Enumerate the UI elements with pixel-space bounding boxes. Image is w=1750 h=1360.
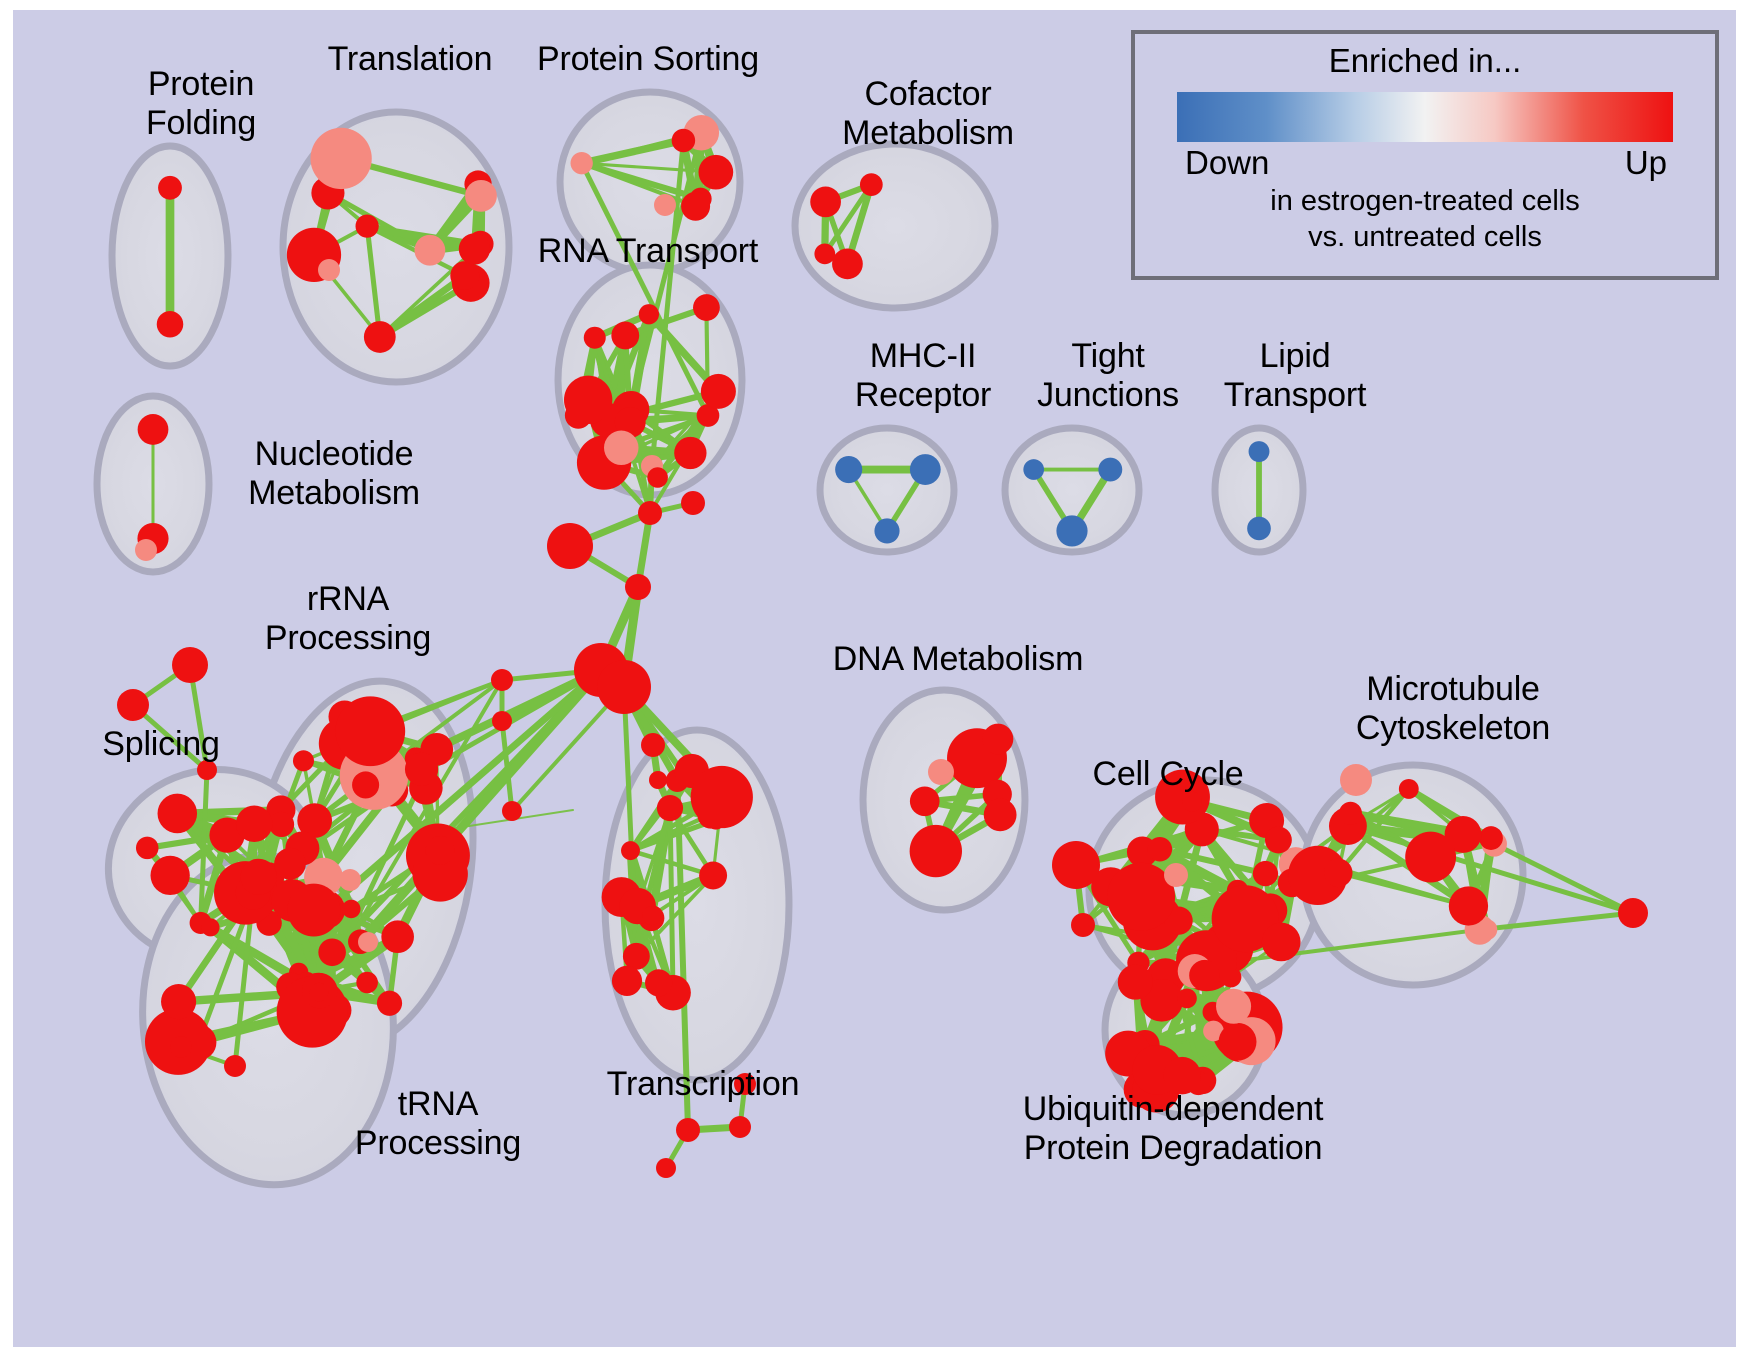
network-node <box>570 152 592 174</box>
network-node <box>136 837 159 860</box>
network-node <box>1216 989 1251 1024</box>
network-node <box>701 374 736 409</box>
network-node <box>860 173 883 196</box>
legend-subtitle-line1: in estrogen-treated cells <box>1135 184 1715 218</box>
network-edge <box>670 807 673 993</box>
network-node <box>274 848 306 880</box>
legend-title: Enriched in... <box>1135 42 1715 80</box>
network-node <box>364 321 396 353</box>
network-node <box>1253 861 1278 886</box>
network-node <box>502 801 522 821</box>
network-node <box>1339 802 1362 825</box>
network-node <box>1479 826 1503 850</box>
network-node <box>1148 837 1173 862</box>
figure-root: Protein FoldingTranslationProtein Sortin… <box>0 0 1750 1360</box>
network-node <box>158 794 198 834</box>
network-node <box>698 155 733 190</box>
network-node <box>1177 988 1197 1008</box>
network-node <box>269 812 294 837</box>
network-node <box>356 215 379 238</box>
network-node <box>564 376 612 424</box>
cluster-label-cofactor-metabolism: Cofactor Metabolism <box>803 75 1053 153</box>
network-node <box>150 856 189 895</box>
network-node <box>1098 458 1122 482</box>
network-node <box>641 733 665 757</box>
network-node <box>584 327 606 349</box>
network-node <box>691 766 753 828</box>
network-node <box>835 456 862 483</box>
network-node <box>1023 459 1044 480</box>
network-node <box>699 862 727 890</box>
network-node <box>1189 960 1220 991</box>
cluster-label-splicing: Splicing <box>61 725 261 764</box>
network-node <box>1449 886 1488 925</box>
network-node <box>597 660 651 714</box>
network-node <box>672 129 696 153</box>
network-node <box>625 574 651 600</box>
network-node <box>381 920 414 953</box>
network-node <box>874 518 899 543</box>
network-node <box>693 294 720 321</box>
network-node <box>170 1036 192 1058</box>
legend-high-label: Up <box>1625 144 1667 182</box>
network-node <box>649 771 667 789</box>
cluster-label-trna-processing: tRNA Processing <box>323 1085 553 1163</box>
network-node <box>172 647 208 683</box>
cluster-label-dna-metabolism: DNA Metabolism <box>813 640 1103 679</box>
network-node <box>201 918 219 936</box>
network-node <box>358 932 378 952</box>
cluster-label-nucleotide-metabolism: Nucleotide Metabolism <box>209 435 459 513</box>
network-node <box>135 539 157 561</box>
network-node <box>352 771 379 798</box>
network-node <box>450 261 479 290</box>
legend-subtitle-line2: vs. untreated cells <box>1135 220 1715 254</box>
network-node <box>1164 863 1188 887</box>
network-node <box>138 414 169 445</box>
cluster-label-ubiquitin-protein-degradation: Ubiquitin-dependent Protein Degradation <box>973 1090 1373 1168</box>
network-node <box>656 1158 676 1178</box>
cluster-label-protein-sorting: Protein Sorting <box>503 40 793 79</box>
network-node <box>1265 827 1292 854</box>
network-node <box>241 859 277 895</box>
network-node <box>1249 441 1270 462</box>
network-node <box>236 806 273 843</box>
cluster-label-protein-folding: Protein Folding <box>91 65 311 143</box>
network-node <box>1340 764 1372 796</box>
network-node <box>377 991 402 1016</box>
network-node <box>676 1118 700 1142</box>
network-node <box>547 523 593 569</box>
network-node <box>426 836 455 865</box>
network-node <box>638 501 662 525</box>
network-node <box>928 759 954 785</box>
network-node <box>623 943 650 970</box>
network-node <box>910 454 941 485</box>
cluster-label-rna-transport: RNA Transport <box>513 232 783 271</box>
network-node <box>459 233 490 264</box>
network-node <box>335 696 405 766</box>
network-node <box>642 906 661 925</box>
network-node <box>1052 841 1100 889</box>
network-node <box>414 235 445 266</box>
network-node <box>339 869 361 891</box>
network-node <box>611 322 639 350</box>
network-node <box>1324 859 1353 888</box>
network-node <box>310 983 329 1002</box>
cluster-label-lipid-transport: Lipid Transport <box>1185 337 1405 415</box>
network-node <box>612 966 642 996</box>
network-node <box>1182 792 1202 812</box>
legend-gradient-bar <box>1177 92 1673 142</box>
network-node <box>681 491 705 515</box>
legend-box: Enriched in... Down Up in estrogen-treat… <box>1131 30 1719 280</box>
cluster-label-microtubule-cytoskeleton: Microtubule Cytoskeleton <box>1308 670 1598 748</box>
network-node <box>405 753 438 786</box>
cluster-label-transcription: Transcription <box>568 1065 838 1104</box>
network-node <box>157 311 184 338</box>
network-node <box>117 689 149 721</box>
network-node <box>1071 913 1095 937</box>
cluster-label-translation: Translation <box>285 40 535 79</box>
cluster-label-cell-cycle: Cell Cycle <box>1053 755 1283 794</box>
network-node <box>674 437 706 469</box>
network-node <box>356 972 378 994</box>
network-node <box>1399 779 1419 799</box>
network-node <box>491 669 513 691</box>
network-node <box>659 796 681 818</box>
network-node <box>810 187 841 218</box>
network-node <box>1618 898 1648 928</box>
network-node <box>1247 517 1271 541</box>
network-node <box>1118 965 1153 1000</box>
network-node <box>983 724 1014 755</box>
network-canvas: Protein FoldingTranslationProtein Sortin… <box>13 10 1736 1347</box>
cluster-label-rrna-processing: rRNA Processing <box>233 580 463 658</box>
network-node <box>647 467 668 488</box>
network-node <box>1476 919 1497 940</box>
network-node <box>287 884 340 937</box>
network-node <box>639 304 659 324</box>
network-node <box>621 841 640 860</box>
network-node <box>832 248 863 279</box>
network-node <box>310 128 371 189</box>
network-node <box>1219 1023 1257 1061</box>
network-node <box>465 180 497 212</box>
network-node <box>910 786 940 816</box>
network-node <box>1056 515 1087 546</box>
network-node <box>342 900 361 919</box>
network-node <box>729 1116 751 1138</box>
network-node <box>1405 832 1456 883</box>
network-node <box>814 243 835 264</box>
network-node <box>1262 923 1301 962</box>
network-node <box>492 711 512 731</box>
network-node <box>681 192 710 221</box>
network-node <box>293 750 314 771</box>
network-node <box>1164 1057 1201 1094</box>
network-node <box>604 431 638 465</box>
network-node <box>318 938 346 966</box>
legend-low-label: Down <box>1185 144 1269 182</box>
network-node <box>224 1055 246 1077</box>
network-node <box>645 969 672 996</box>
network-node <box>318 259 340 281</box>
network-node <box>910 825 962 877</box>
network-node <box>161 984 196 1019</box>
network-node <box>158 176 182 200</box>
network-node <box>654 194 676 216</box>
network-node <box>984 798 1017 831</box>
